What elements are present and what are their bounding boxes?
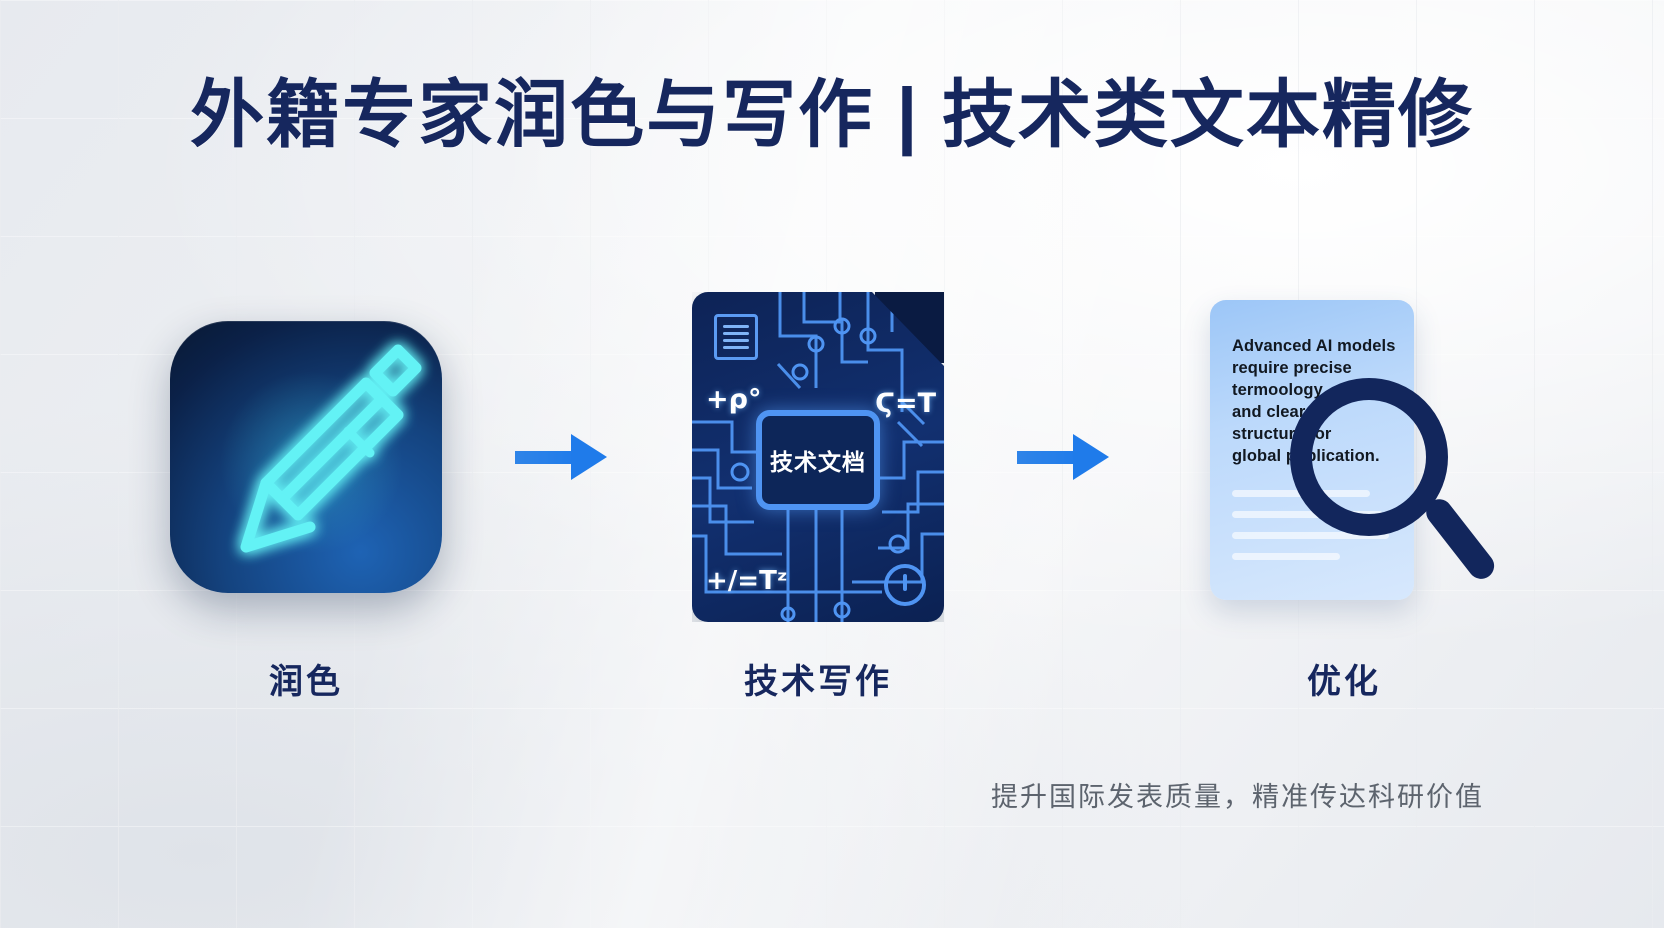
formula-3: +/=Tᶻ bbox=[706, 566, 788, 596]
arrow-right-icon-1 bbox=[515, 434, 619, 480]
manuscript-line-2: require precise bbox=[1232, 358, 1396, 380]
pencil-icon bbox=[170, 321, 442, 593]
line bbox=[723, 339, 749, 342]
document-lines-icon bbox=[714, 314, 758, 360]
footer-caption: 提升国际发表质量，精准传达科研价值 bbox=[991, 775, 1484, 814]
step-label-optimize: 优化 bbox=[1194, 654, 1494, 703]
line bbox=[723, 332, 749, 335]
label-slot-technical-writing: 技术写作 bbox=[692, 654, 944, 703]
arrow-head bbox=[1073, 434, 1109, 480]
polish-icon-tile bbox=[170, 321, 442, 593]
workflow-step-optimize: Advanced AI models require precise termo… bbox=[1194, 292, 1494, 622]
manuscript-line-1: Advanced AI models bbox=[1232, 336, 1396, 358]
circuit-document-icon: +ρ° Ϛ=T +/=Tᶻ 技术文档 bbox=[692, 292, 944, 622]
document-page: +ρ° Ϛ=T +/=Tᶻ 技术文档 bbox=[692, 292, 944, 622]
magnifier-icon bbox=[1290, 378, 1500, 604]
formula-2: Ϛ=T bbox=[875, 388, 936, 419]
step-label-polish: 润色 bbox=[170, 654, 442, 703]
step-label-technical-writing: 技术写作 bbox=[692, 654, 944, 703]
workflow-labels: 润色 技术写作 优化 bbox=[170, 648, 1494, 708]
line bbox=[723, 325, 749, 328]
workflow-diagram: +ρ° Ϛ=T +/=Tᶻ 技术文档 Advanced AI models re… bbox=[170, 282, 1494, 632]
arrow-shaft bbox=[1017, 451, 1081, 464]
magnifier-lens bbox=[1290, 378, 1448, 536]
formula-1: +ρ° bbox=[706, 384, 761, 415]
label-slot-polish: 润色 bbox=[170, 654, 442, 703]
magnifier-handle bbox=[1421, 494, 1499, 584]
arrow-right-icon-2 bbox=[1017, 434, 1121, 480]
line bbox=[723, 346, 749, 349]
power-icon bbox=[884, 564, 926, 606]
workflow-step-polish bbox=[170, 321, 442, 593]
label-slot-optimize: 优化 bbox=[1194, 654, 1494, 703]
page-title: 外籍专家润色与写作 | 技术类文本精修 bbox=[0, 76, 1664, 154]
review-document-group: Advanced AI models require precise termo… bbox=[1194, 292, 1494, 622]
workflow-step-technical-writing: +ρ° Ϛ=T +/=Tᶻ 技术文档 bbox=[692, 292, 944, 622]
technical-document-chip: 技术文档 bbox=[756, 410, 880, 510]
arrow-head bbox=[571, 434, 607, 480]
arrow-shaft bbox=[515, 451, 579, 464]
chip-label: 技术文档 bbox=[770, 443, 866, 477]
